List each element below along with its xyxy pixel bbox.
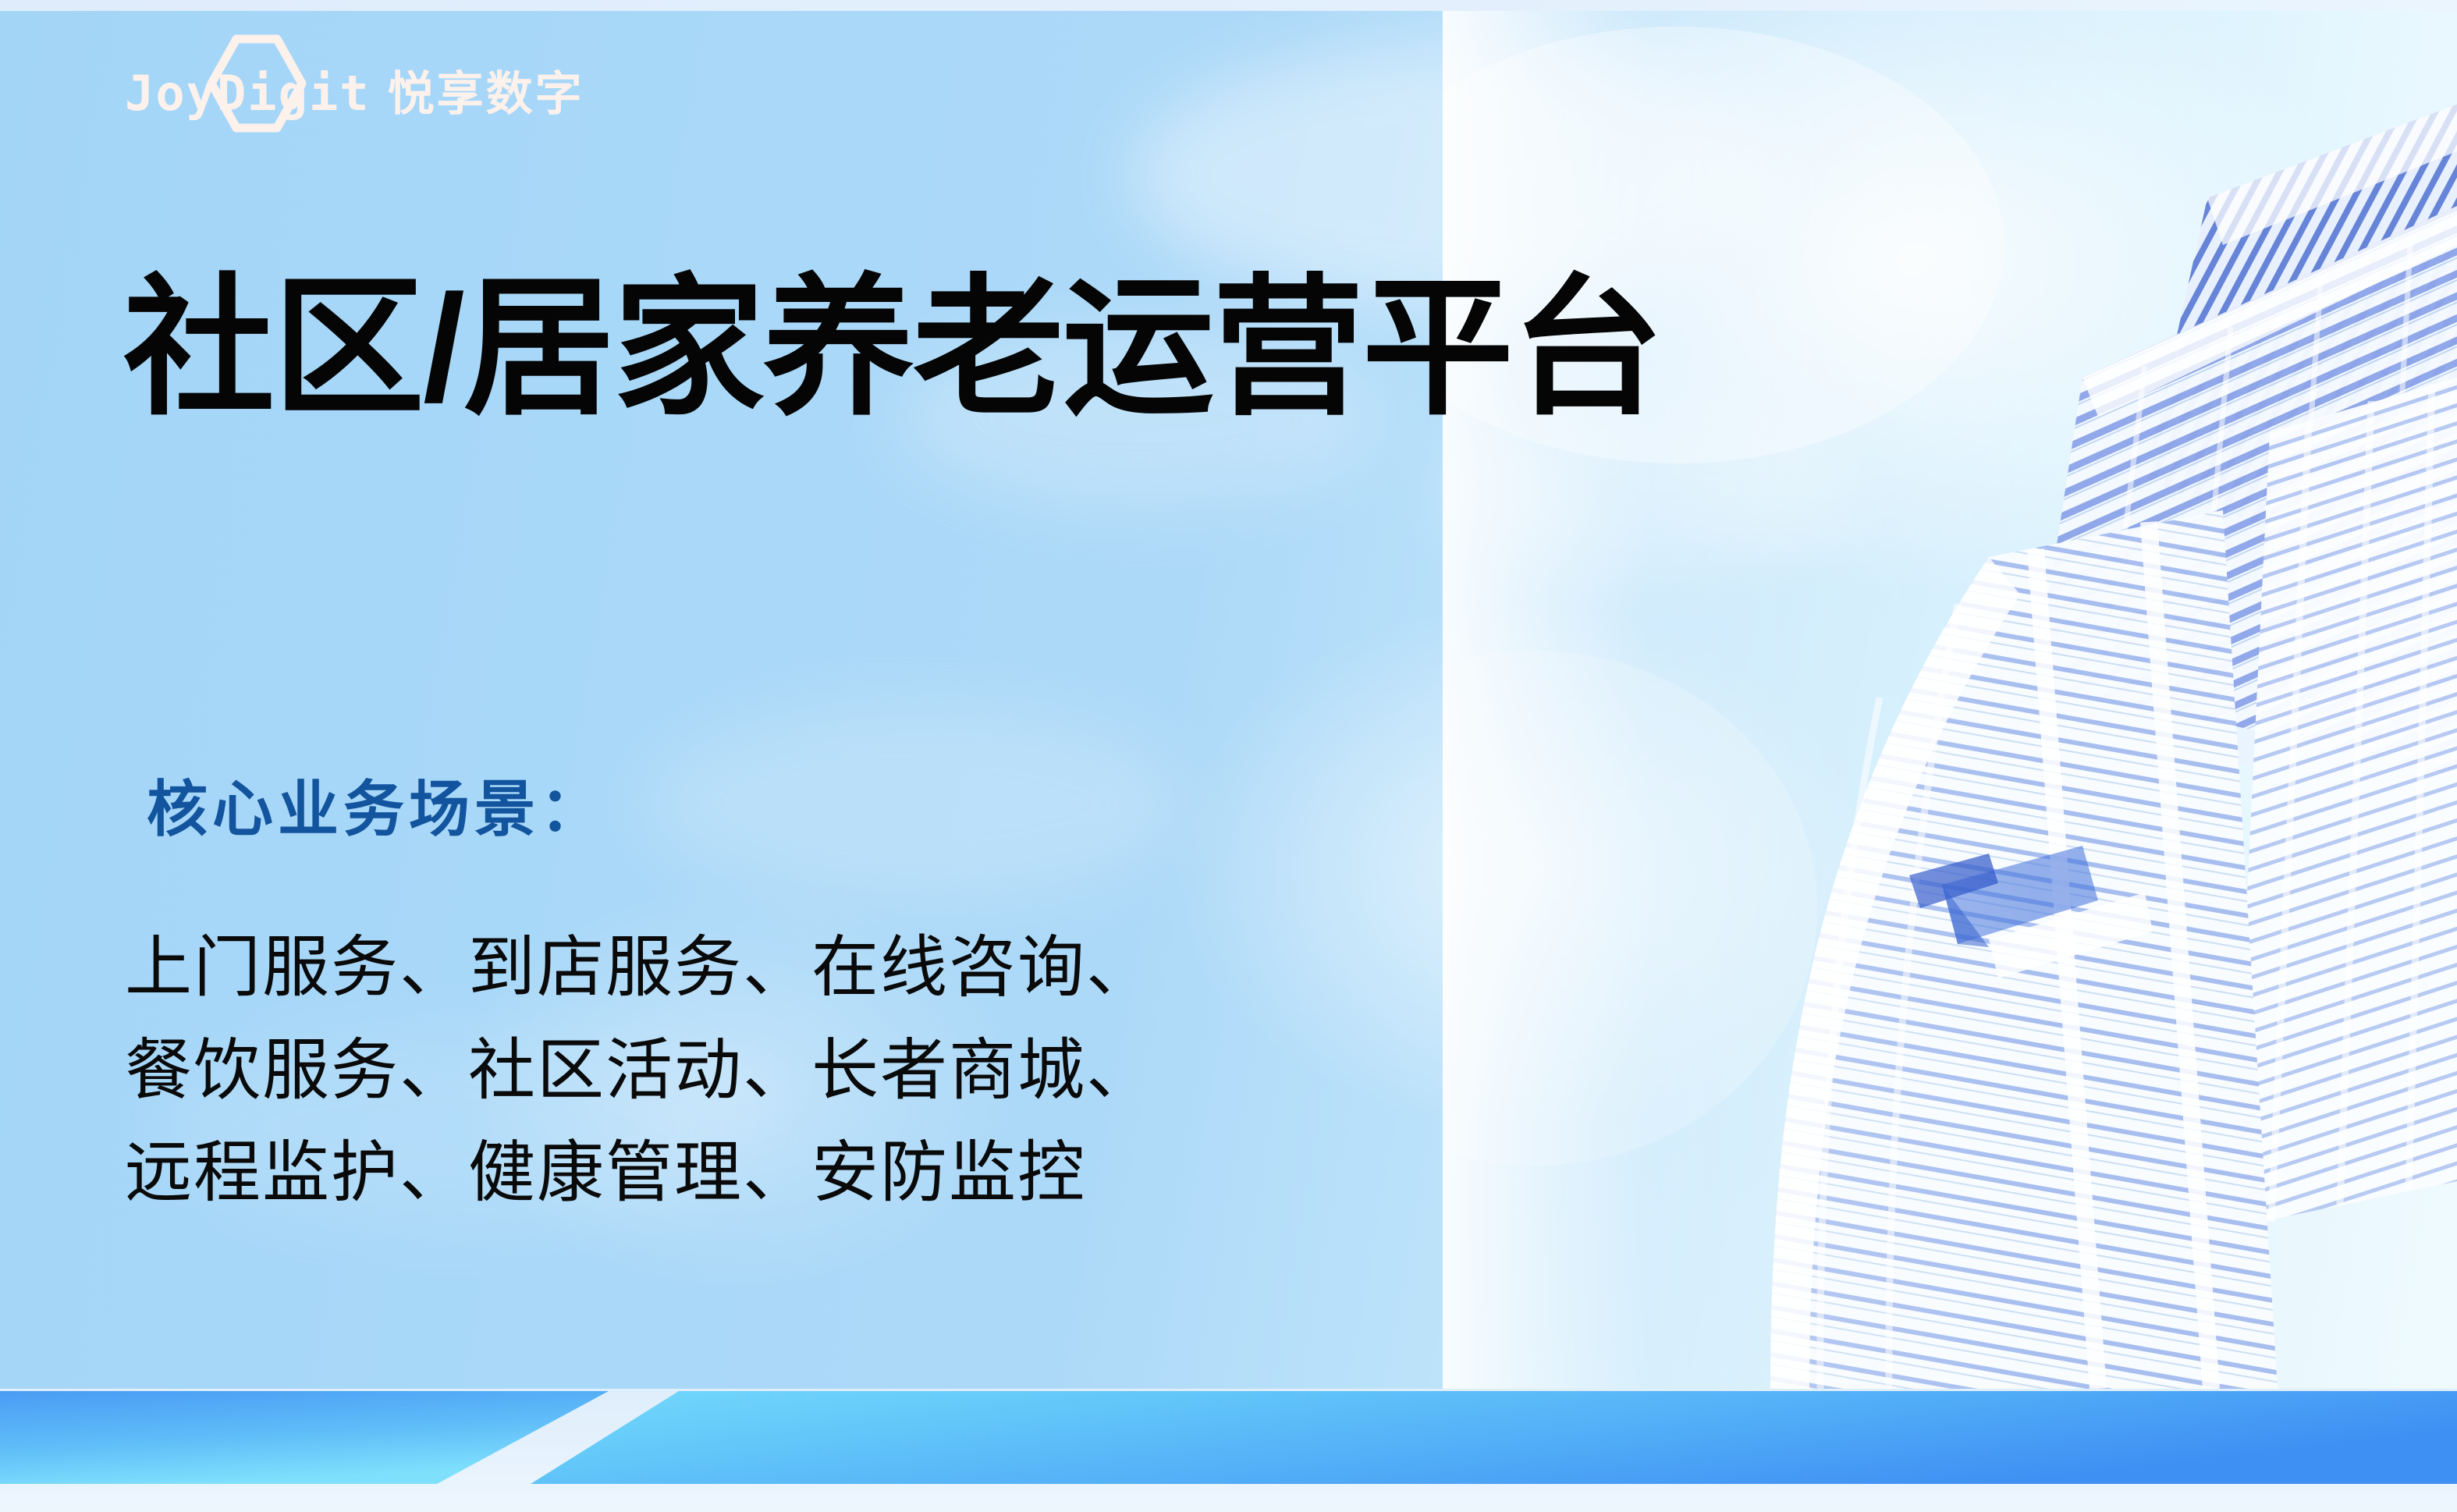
- section-subtitle: 核心业务场景：: [147, 776, 605, 843]
- slide-root: JoyDigit 悦享数字 社区/居家养老运营平台 核心业务场景： 上门服务、到…: [0, 0, 2457, 1512]
- brand-name-en: JoyDigit: [125, 69, 371, 118]
- top-accent-strip: [0, 0, 2457, 11]
- list-item: 远程监护、健康管理、安防监控: [125, 1122, 1155, 1225]
- list-item: 上门服务、到店服务、在线咨询、: [125, 917, 1155, 1020]
- brand-logo-text: JoyDigit 悦享数字: [125, 69, 584, 118]
- brand-logo: JoyDigit 悦享数字: [125, 33, 584, 134]
- scenario-list: 上门服务、到店服务、在线咨询、 餐饮服务、社区活动、长者商城、 远程监护、健康管…: [125, 917, 1155, 1225]
- brand-name-cn: 悦享数字: [388, 71, 584, 118]
- page-title: 社区/居家养老运营平台: [123, 267, 1662, 431]
- list-item: 餐饮服务、社区活动、长者商城、: [125, 1020, 1155, 1123]
- cloud-wisp: [640, 702, 1186, 905]
- bottom-decorative-banner: [0, 1389, 2457, 1512]
- skyscraper-photo: [1443, 11, 2457, 1389]
